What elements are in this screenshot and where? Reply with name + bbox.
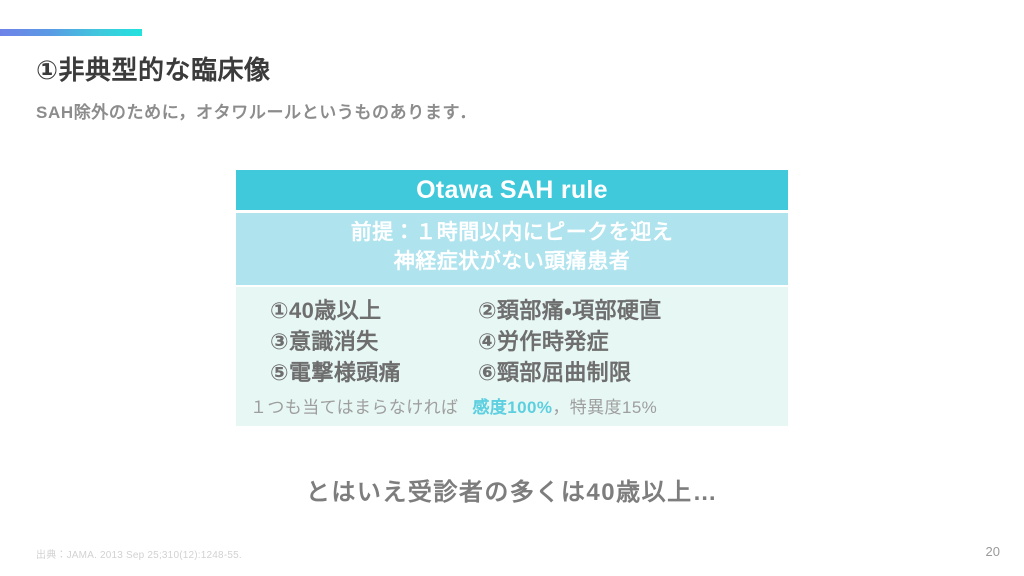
rule-card-body: ①40歳以上 ②頚部痛・項部硬直 ③意識消失 ④労作時発症 ⑤電撃様頭痛 ⑥頸部… (236, 287, 788, 426)
page-subtitle: SAH除外のために，オタワルールというものあります． (36, 98, 477, 123)
criteria-row: ③意識消失 ④労作時発症 (236, 326, 788, 357)
criterion-6: ⑥頸部屈曲制限 (478, 357, 788, 388)
criterion-4: ④労作時発症 (478, 326, 788, 357)
premise-line-2: 神経症状がない頭痛患者 (236, 247, 788, 276)
footnote-sensitivity-highlight: 感度100% (472, 398, 552, 417)
criterion-1: ①40歳以上 (270, 295, 478, 326)
criterion-2: ②頚部痛・項部硬直 (478, 295, 788, 326)
otawa-sah-rule-card: Otawa SAH rule 前提：１時間以内にピークを迎え 神経症状がない頭痛… (236, 170, 788, 426)
rule-card-premise: 前提：１時間以内にピークを迎え 神経症状がない頭痛患者 (236, 213, 788, 285)
premise-line-1: 前提：１時間以内にピークを迎え (236, 218, 788, 247)
page-number: 20 (986, 544, 1000, 559)
slide-canvas: ①非典型的な臨床像 SAH除外のために，オタワルールというものあります． Ota… (0, 0, 1024, 576)
criteria-row: ①40歳以上 ②頚部痛・項部硬直 (236, 295, 788, 326)
criterion-3: ③意識消失 (270, 326, 478, 357)
rule-card-footnote: １つも当てはまらなければ感度100%，特異度15% (236, 393, 788, 418)
rule-card-header-title: Otawa SAH rule (236, 170, 788, 210)
source-citation: 出典：JAMA. 2013 Sep 25;310(12):1248-55. (36, 546, 242, 561)
footnote-specificity-text: ，特異度15% (552, 398, 657, 417)
title-accent-bar (0, 29, 142, 36)
criteria-row: ⑤電撃様頭痛 ⑥頸部屈曲制限 (236, 357, 788, 388)
closing-note: とはいえ受診者の多くは40歳以上… (0, 472, 1024, 507)
criterion-5: ⑤電撃様頭痛 (270, 357, 478, 388)
page-title: ①非典型的な臨床像 (36, 50, 271, 87)
footnote-lead-text: １つも当てはまらなければ (250, 398, 458, 417)
